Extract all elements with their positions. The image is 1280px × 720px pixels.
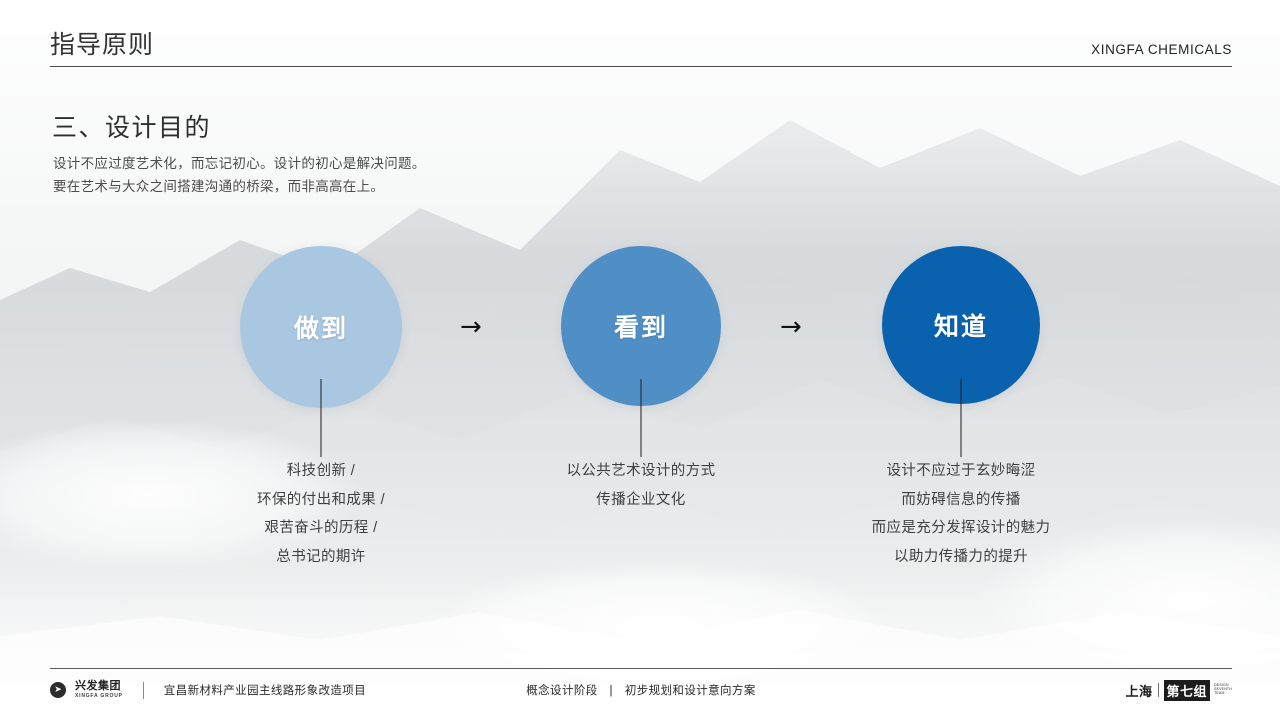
node-label-1: 做到 xyxy=(294,309,348,345)
caption-line: 而应是充分发挥设计的魅力 xyxy=(872,514,1051,543)
caption-line: 科技创新 / xyxy=(257,457,385,486)
section-body: 设计不应过度艺术化，而忘记初心。设计的初心是解决问题。 要在艺术与大众之间搭建沟… xyxy=(53,152,426,198)
studio-logo-separator xyxy=(1158,683,1159,697)
arrow-icon-2: → xyxy=(780,314,802,340)
slide-footer: ➤ 兴发集团 XINGFA GROUP 宜昌新材料产业园主线路形象改造项目 概念… xyxy=(50,668,1232,702)
node-caption-2: 以公共艺术设计的方式 传播企业文化 xyxy=(567,457,716,514)
section-body-line-1: 设计不应过度艺术化，而忘记初心。设计的初心是解决问题。 xyxy=(53,152,426,175)
node-caption-3: 设计不应过于玄妙晦涩 而妨碍信息的传播 而应是充分发挥设计的魅力 以助力传播力的… xyxy=(872,457,1051,572)
node-stem-3 xyxy=(961,379,962,457)
process-node-2: 看到 以公共艺术设计的方式 传播企业文化 xyxy=(561,246,721,406)
process-node-1: 做到 科技创新 / 环保的付出和成果 / 艰苦奋斗的历程 / 总书记的期许 xyxy=(240,246,402,408)
caption-line: 传播企业文化 xyxy=(567,486,716,515)
process-diagram: 做到 科技创新 / 环保的付出和成果 / 艰苦奋斗的历程 / 总书记的期许 → … xyxy=(0,246,1280,576)
node-label-2: 看到 xyxy=(614,308,668,344)
process-node-3: 知道 设计不应过于玄妙晦涩 而妨碍信息的传播 而应是充分发挥设计的魅力 以助力传… xyxy=(882,246,1040,404)
node-caption-1: 科技创新 / 环保的付出和成果 / 艰苦奋斗的历程 / 总书记的期许 xyxy=(257,457,385,572)
node-label-3: 知道 xyxy=(934,307,988,343)
header-divider xyxy=(50,66,1232,67)
caption-line: 以助力传播力的提升 xyxy=(872,543,1051,572)
page-title: 指导原则 xyxy=(50,32,154,60)
caption-line: 艰苦奋斗的历程 / xyxy=(257,514,385,543)
studio-logo: 上海 第七组 DESIGN SEVENTH TEAM xyxy=(1126,680,1232,701)
footer-divider xyxy=(50,668,1232,669)
studio-logo-microtext: DESIGN SEVENTH TEAM xyxy=(1214,684,1232,695)
section-heading: 三、设计目的 xyxy=(52,108,211,144)
node-stem-2 xyxy=(641,379,642,457)
caption-line: 设计不应过于玄妙晦涩 xyxy=(872,457,1051,486)
node-stem-1 xyxy=(321,379,322,457)
section-body-line-2: 要在艺术与大众之间搭建沟通的桥梁，而非高高在上。 xyxy=(53,175,426,198)
footer-stage-label: 概念设计阶段 | 初步规划和设计意向方案 xyxy=(50,682,1232,698)
caption-line: 而妨碍信息的传播 xyxy=(872,486,1051,515)
studio-logo-city: 上海 xyxy=(1126,681,1153,700)
slide-header: 指导原则 XINGFA CHEMICALS xyxy=(50,32,1232,67)
studio-logo-name: 第七组 xyxy=(1164,680,1211,701)
caption-line: 环保的付出和成果 / xyxy=(257,486,385,515)
caption-line: 总书记的期许 xyxy=(257,543,385,572)
brand-label: XINGFA CHEMICALS xyxy=(1091,42,1232,60)
slide: 指导原则 XINGFA CHEMICALS 三、设计目的 设计不应过度艺术化，而… xyxy=(0,0,1280,720)
arrow-icon-1: → xyxy=(460,314,482,340)
microtext-line: TEAM xyxy=(1214,692,1232,696)
caption-line: 以公共艺术设计的方式 xyxy=(567,457,716,486)
